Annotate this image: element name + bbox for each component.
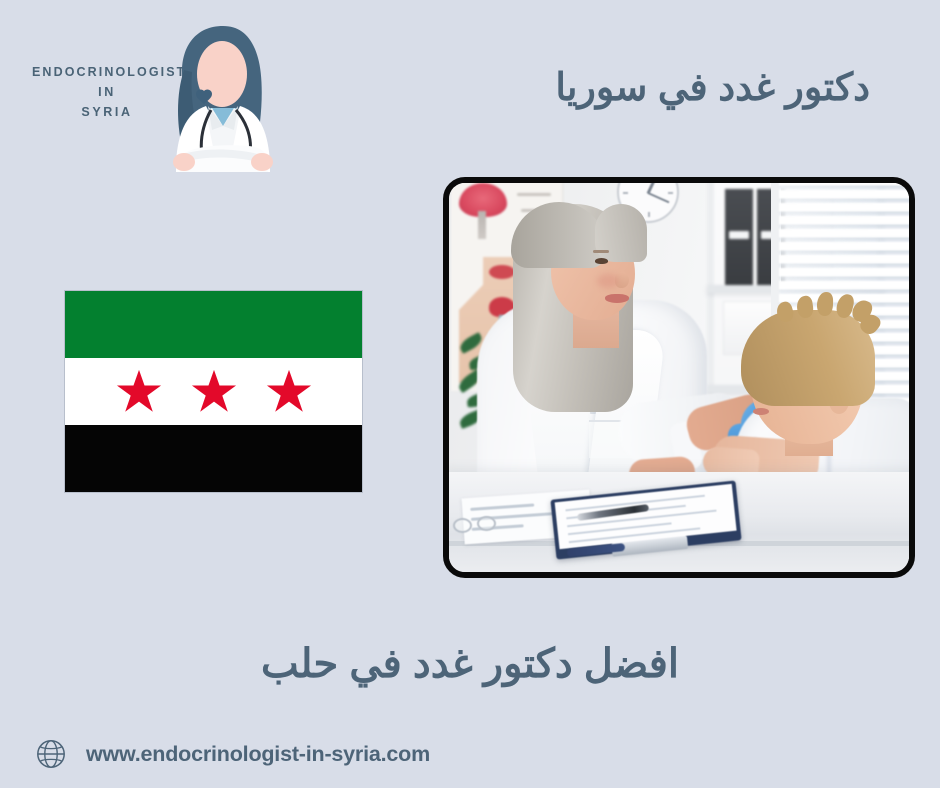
brand-logo-line2: IN bbox=[32, 82, 182, 102]
doctor-eyebrow bbox=[593, 250, 609, 253]
brand-logo[interactable]: ENDOCRINOLOGIST IN SYRIA bbox=[22, 22, 284, 174]
brand-logo-text: ENDOCRINOLOGIST IN SYRIA bbox=[32, 62, 182, 122]
clinic-photo-frame bbox=[443, 177, 915, 578]
flag-star-icon bbox=[116, 368, 162, 414]
doctor-eye bbox=[595, 258, 608, 264]
doctor-figure bbox=[477, 188, 733, 510]
flag-star-icon bbox=[266, 368, 312, 414]
subtitle-heading: افضل دكتور غدد في حلب bbox=[70, 636, 870, 692]
flag-stripe-green bbox=[65, 291, 362, 358]
website-url[interactable]: www.endocrinologist-in-syria.com bbox=[86, 742, 430, 767]
flag-star-icon bbox=[191, 368, 237, 414]
poster-canvas: ENDOCRINOLOGIST IN SYRIA bbox=[0, 0, 940, 788]
female-doctor-hijab-illustration bbox=[162, 22, 284, 174]
doctor-cheek bbox=[597, 274, 619, 288]
syrian-independence-flag bbox=[64, 290, 363, 493]
clinic-photo bbox=[449, 183, 909, 572]
globe-icon bbox=[34, 737, 68, 771]
flag-stripe-black bbox=[65, 425, 362, 492]
eyeglasses bbox=[453, 514, 499, 536]
boy-hair bbox=[741, 310, 875, 406]
footer: www.endocrinologist-in-syria.com bbox=[34, 732, 430, 776]
brand-logo-line1: ENDOCRINOLOGIST bbox=[32, 62, 182, 82]
boy-lips bbox=[753, 408, 769, 415]
doctor-lips bbox=[605, 294, 629, 303]
brand-logo-line3: SYRIA bbox=[32, 102, 182, 122]
flag-stars bbox=[65, 358, 362, 425]
page-title: دكتور غدد في سوريا bbox=[380, 62, 870, 114]
doctor-hair-front-right bbox=[595, 204, 647, 262]
